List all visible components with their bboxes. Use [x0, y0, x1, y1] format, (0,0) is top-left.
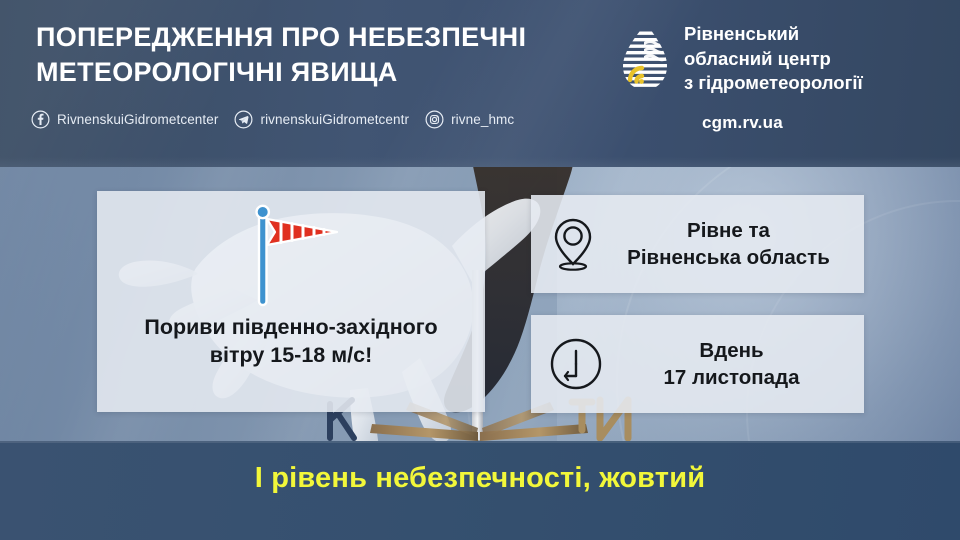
location-line-1: Рівне та [607, 217, 850, 244]
wind-warning-line-2: вітру 15-18 м/с! [105, 341, 477, 369]
social-link-instagram[interactable]: rivne_hmc [425, 110, 514, 129]
brand-name-line-2: обласний центр [684, 47, 863, 72]
page-title: ПОПЕРЕДЖЕННЯ ПРО НЕБЕЗПЕЧНІ МЕТЕОРОЛОГІЧ… [36, 20, 616, 90]
social-links: RivnenskuiGidrometcenter rivnenskuiGidro… [31, 110, 514, 129]
date-card: Вдень 17 листопада [531, 315, 864, 413]
wind-warning-card: Пориви південно-західного вітру 15-18 м/… [97, 191, 485, 412]
date-text: Вдень 17 листопада [613, 337, 850, 391]
facebook-icon [31, 110, 50, 129]
page-title-line-1: ПОПЕРЕДЖЕННЯ ПРО НЕБЕЗПЕЧНІ [36, 20, 616, 55]
wind-warning-text: Пориви південно-західного вітру 15-18 м/… [105, 313, 477, 369]
brand-name-line-3: з гідрометеорології [684, 71, 863, 96]
location-text: Рівне та Рівненська область [607, 217, 850, 271]
social-link-facebook[interactable]: RivnenskuiGidrometcenter [31, 110, 218, 129]
wind-pennant-icon [245, 199, 341, 311]
facebook-handle: RivnenskuiGidrometcenter [57, 112, 218, 127]
instagram-icon [425, 110, 444, 129]
instagram-handle: rivne_hmc [451, 112, 514, 127]
social-link-telegram[interactable]: rivnenskuiGidrometcentr [234, 110, 409, 129]
map-pin-icon [549, 216, 597, 272]
brand-block: Рівненський обласний центр з гідрометеор… [616, 22, 863, 96]
telegram-icon [234, 110, 253, 129]
clock-icon [549, 337, 603, 391]
telegram-handle: rivnenskuiGidrometcentr [260, 112, 409, 127]
brand-name-line-1: Рівненський [684, 22, 863, 47]
warning-level-text: І рівень небезпечності, жовтий [0, 462, 960, 495]
location-card: Рівне та Рівненська область [531, 195, 864, 293]
date-line-1: Вдень [613, 337, 850, 364]
water-droplet-sun-logo [616, 22, 670, 96]
date-line-2: 17 листопада [613, 364, 850, 391]
page-title-line-2: МЕТЕОРОЛОГІЧНІ ЯВИЩА [36, 55, 616, 90]
weather-warning-poster: ПОПЕРЕДЖЕННЯ ПРО НЕБЕЗПЕЧНІ МЕТЕОРОЛОГІЧ… [0, 0, 960, 540]
wind-warning-line-1: Пориви південно-західного [105, 313, 477, 341]
brand-name: Рівненський обласний центр з гідрометеор… [684, 22, 863, 96]
brand-website[interactable]: cgm.rv.ua [702, 113, 783, 133]
location-line-2: Рівненська область [607, 244, 850, 271]
